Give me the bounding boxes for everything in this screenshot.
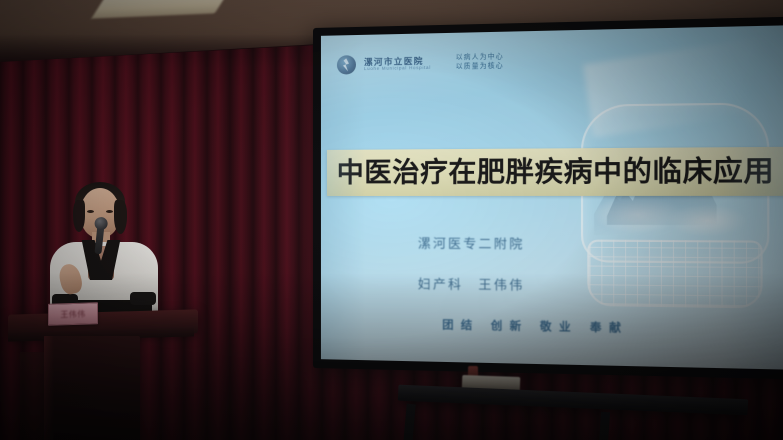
hospital-emblem-icon xyxy=(337,55,356,74)
presenter-cuff-right xyxy=(130,292,156,305)
logo-text-group: 漯河市立医院 Luohe Municipal Hospital xyxy=(364,56,431,71)
presentation-slide: 漯河市立医院 Luohe Municipal Hospital 以病人为中心 以… xyxy=(321,25,783,369)
slide-title: 中医治疗在肥胖疾病中的临床应用 xyxy=(337,157,775,186)
slide-title-band: 中医治疗在肥胖疾病中的临床应用 xyxy=(327,147,783,196)
presenter-hair-left xyxy=(73,200,85,232)
footer-motto: 团结 创新 敬业 奉献 xyxy=(442,318,628,335)
header-slogan: 以病人为中心 以质量为核心 xyxy=(456,53,504,71)
lectern-nameplate: 王伟伟 xyxy=(48,302,98,326)
presenter-eye-right xyxy=(106,210,113,213)
subtitle-institution: 漯河医专二附院 xyxy=(418,232,525,252)
slide-footer: 团结 创新 敬业 奉献 xyxy=(321,313,783,340)
subtitle-department-and-presenter: 妇产科 王伟伟 xyxy=(418,273,525,294)
slide-header: 漯河市立医院 Luohe Municipal Hospital 以病人为中心 以… xyxy=(337,52,504,74)
presentation-photo-scene: 漯河市立医院 Luohe Municipal Hospital 以病人为中心 以… xyxy=(0,0,783,440)
slide-subtitle-block: 漯河医专二附院 妇产科 王伟伟 xyxy=(418,232,525,293)
nameplate-text: 王伟伟 xyxy=(60,308,85,320)
lectern-body xyxy=(44,336,140,440)
presenter-hair-right xyxy=(114,200,127,234)
header-slogan-line-2: 以质量为核心 xyxy=(456,62,504,71)
window-lattice-base xyxy=(587,240,762,309)
lectern-body-highlight xyxy=(44,336,54,440)
presenter-eye-left xyxy=(87,210,94,213)
wall-display-bezel: 漯河市立医院 Luohe Municipal Hospital 以病人为中心 以… xyxy=(313,16,783,379)
logo-english-name: Luohe Municipal Hospital xyxy=(364,66,431,72)
chinese-window-frame-ink-landscape-icon xyxy=(581,102,765,315)
av-table-leg-right xyxy=(599,412,610,440)
